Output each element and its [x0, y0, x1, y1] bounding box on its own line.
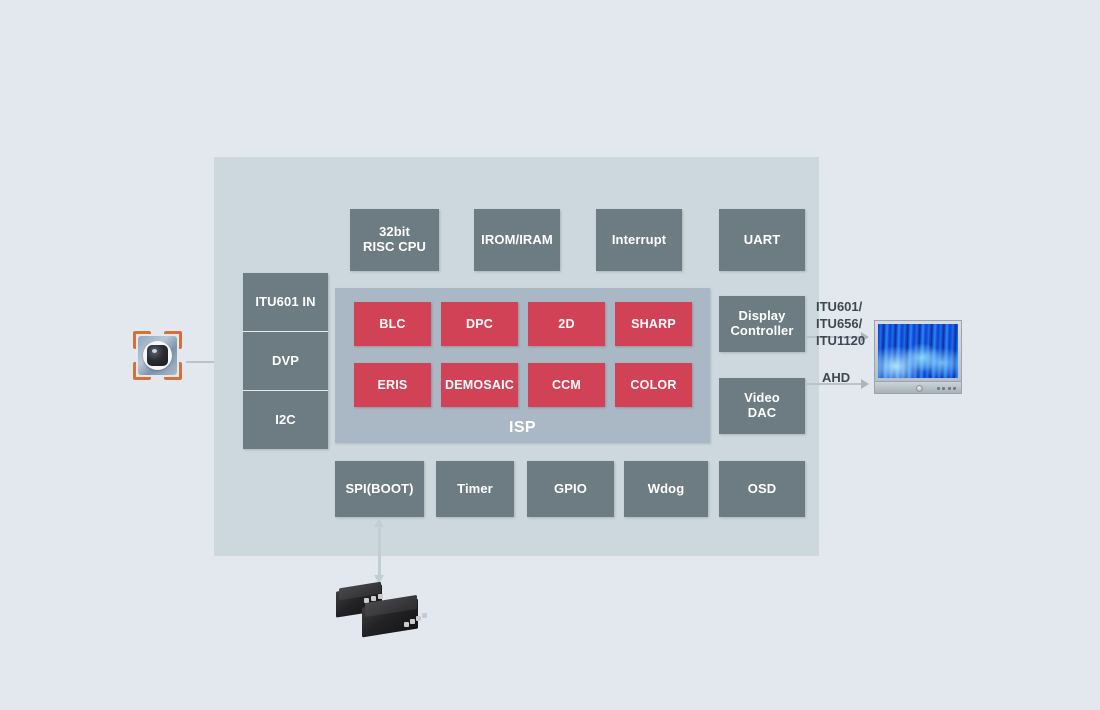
- block-display-controller-label-1: Display: [730, 309, 793, 324]
- block-dvp-label: DVP: [272, 354, 299, 369]
- isp-block-blc-label: BLC: [379, 317, 405, 331]
- block-irom-iram[interactable]: IROM/IRAM: [474, 209, 560, 271]
- label-itu1120: ITU1120: [816, 332, 865, 349]
- block-timer[interactable]: Timer: [436, 461, 514, 517]
- block-uart-label: UART: [744, 233, 781, 248]
- monitor-base: [874, 382, 962, 394]
- block-risc-cpu-label-2: RISC CPU: [363, 240, 426, 255]
- isp-block-2d[interactable]: 2D: [528, 302, 605, 346]
- block-risc-cpu[interactable]: 32bit RISC CPU: [350, 209, 439, 271]
- label-display-output-protocols: ITU601/ ITU656/ ITU1120: [816, 298, 865, 349]
- block-irom-iram-label: IROM/IRAM: [481, 233, 553, 248]
- isp-block-dpc-label: DPC: [466, 317, 493, 331]
- block-display-controller[interactable]: Display Controller: [719, 296, 805, 352]
- isp-block-2d-label: 2D: [558, 317, 574, 331]
- camera-lens-glint: [152, 349, 157, 353]
- camera-bracket-top-left: [133, 331, 151, 349]
- block-i2c-label: I2C: [275, 413, 296, 428]
- connector-spi-to-flash: [374, 518, 385, 584]
- isp-block-sharp-label: SHARP: [631, 317, 676, 331]
- diagram-canvas: 32bit RISC CPU IROM/IRAM Interrupt UART …: [0, 0, 1100, 710]
- block-risc-cpu-label-1: 32bit: [363, 225, 426, 240]
- block-i2c[interactable]: I2C: [243, 391, 328, 449]
- label-ahd: AHD: [822, 369, 850, 386]
- block-osd-label: OSD: [748, 482, 776, 497]
- block-video-dac-label-1: Video: [744, 391, 780, 406]
- flash-chip-front: [360, 597, 428, 641]
- camera-bracket-bottom-left: [133, 362, 151, 380]
- isp-panel: BLC DPC 2D SHARP ERIS DEMOSAIC CCM COLOR: [335, 288, 710, 443]
- isp-block-color-label: COLOR: [630, 378, 676, 392]
- isp-block-dpc[interactable]: DPC: [441, 302, 518, 346]
- connector-shaft: [378, 526, 381, 576]
- isp-block-grid: BLC DPC 2D SHARP ERIS DEMOSAIC CCM COLOR: [354, 302, 692, 407]
- isp-block-color[interactable]: COLOR: [615, 363, 692, 407]
- block-gpio[interactable]: GPIO: [527, 461, 614, 517]
- block-wdog-label: Wdog: [648, 482, 685, 497]
- block-video-dac[interactable]: Video DAC: [719, 378, 805, 434]
- camera-bracket-bottom-right: [164, 362, 182, 380]
- flash-pin: [416, 616, 421, 621]
- monitor-bezel: [874, 320, 962, 382]
- monitor-indicator-dots: [937, 387, 957, 390]
- isp-block-eris[interactable]: ERIS: [354, 363, 431, 407]
- block-interrupt[interactable]: Interrupt: [596, 209, 682, 271]
- block-spi-boot[interactable]: SPI(BOOT): [335, 461, 424, 517]
- isp-panel-label: ISP: [335, 419, 710, 437]
- monitor-screen: [878, 324, 958, 378]
- display-monitor-icon: [874, 320, 962, 394]
- block-display-controller-label-2: Controller: [730, 324, 793, 339]
- block-wdog[interactable]: Wdog: [624, 461, 708, 517]
- block-interrupt-label: Interrupt: [612, 233, 666, 248]
- flash-pin: [410, 619, 415, 624]
- flash-pin: [422, 613, 427, 618]
- label-itu656: ITU656/: [816, 315, 865, 332]
- isp-block-ccm-label: CCM: [552, 378, 581, 392]
- block-timer-label: Timer: [457, 482, 493, 497]
- block-uart[interactable]: UART: [719, 209, 805, 271]
- arrowhead-dac-to-monitor: [861, 379, 869, 389]
- io-interface-stack: ITU601 IN DVP I2C: [243, 273, 328, 449]
- block-gpio-label: GPIO: [554, 482, 587, 497]
- camera-sensor-icon: [133, 331, 182, 380]
- isp-block-demosaic[interactable]: DEMOSAIC: [441, 363, 518, 407]
- monitor-power-button[interactable]: [916, 385, 923, 392]
- spi-flash-chips-icon: [332, 583, 428, 641]
- block-itu601-in-label: ITU601 IN: [255, 295, 315, 310]
- isp-block-ccm[interactable]: CCM: [528, 363, 605, 407]
- block-itu601-in[interactable]: ITU601 IN: [243, 273, 328, 332]
- isp-block-eris-label: ERIS: [378, 378, 408, 392]
- block-spi-boot-label: SPI(BOOT): [345, 482, 413, 497]
- isp-block-sharp[interactable]: SHARP: [615, 302, 692, 346]
- block-video-dac-label-2: DAC: [744, 406, 780, 421]
- flash-pin: [404, 622, 409, 627]
- isp-block-blc[interactable]: BLC: [354, 302, 431, 346]
- camera-bracket-top-right: [164, 331, 182, 349]
- block-osd[interactable]: OSD: [719, 461, 805, 517]
- block-dvp[interactable]: DVP: [243, 332, 328, 391]
- isp-block-demosaic-label: DEMOSAIC: [445, 378, 514, 392]
- label-itu601: ITU601/: [816, 298, 865, 315]
